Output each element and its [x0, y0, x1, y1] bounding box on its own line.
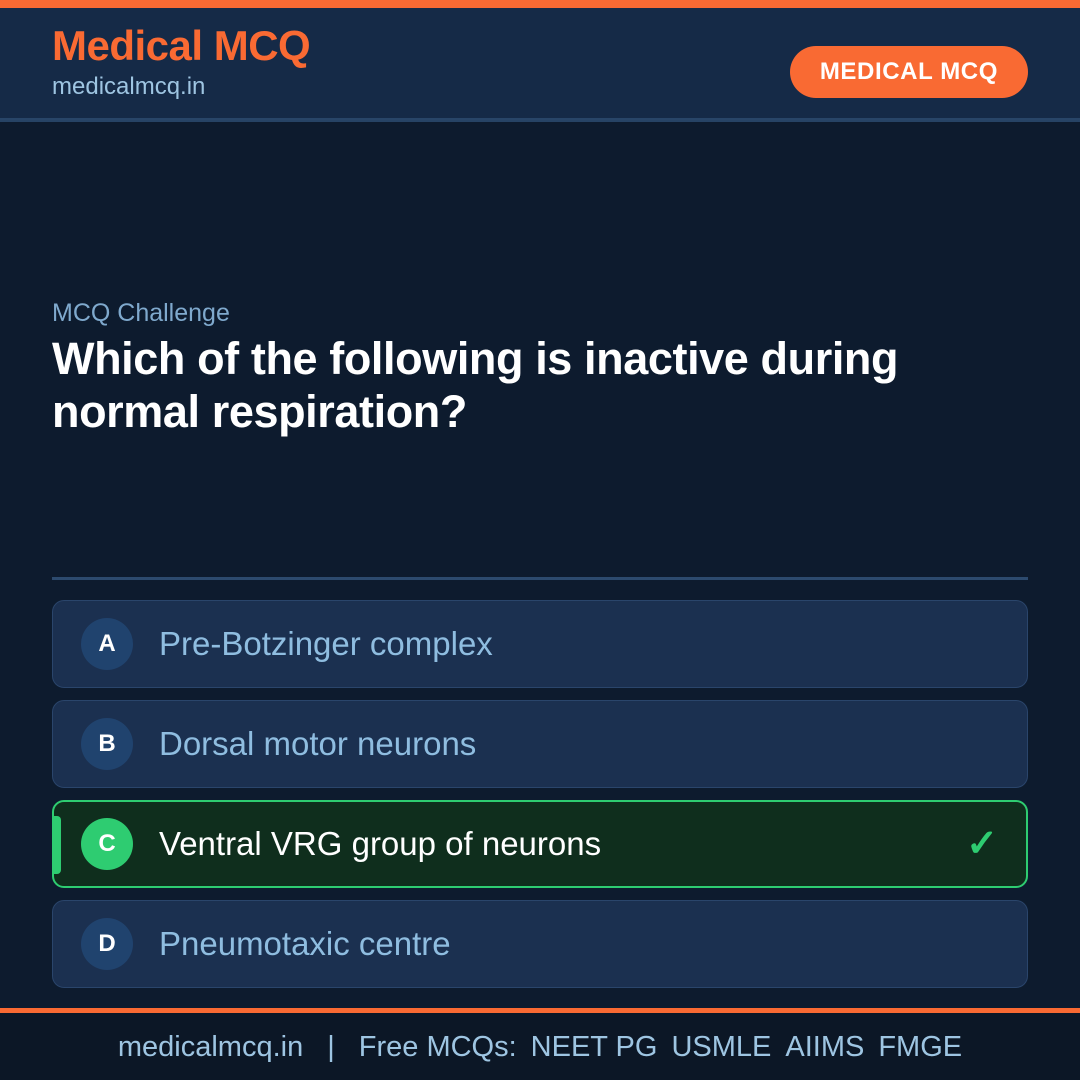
option-letter-badge-a: A [81, 618, 133, 670]
option-label-b: Dorsal motor neurons [159, 724, 999, 764]
top-accent-strip [0, 0, 1080, 8]
option-letter-badge-d: D [81, 918, 133, 970]
option-label-d: Pneumotaxic centre [159, 924, 999, 964]
question-block: MCQ Challenge Which of the following is … [52, 298, 1028, 438]
footer-label: Free MCQs: [359, 1030, 517, 1064]
option-row-b[interactable]: B Dorsal motor neurons [52, 700, 1028, 788]
correct-accent-bar [54, 816, 61, 874]
footer-exam-aiims[interactable]: AIIMS [785, 1030, 864, 1064]
brand-block: Medical MCQ medicalmcq.in [52, 22, 310, 102]
header-badge: MEDICAL MCQ [790, 46, 1028, 98]
option-label-c: Ventral VRG group of neurons [159, 824, 966, 864]
brand-title: Medical MCQ [52, 22, 310, 70]
footer-website[interactable]: medicalmcq.in [118, 1030, 303, 1064]
option-letter-badge-b: B [81, 718, 133, 770]
footer-exam-neet-pg[interactable]: NEET PG [531, 1030, 658, 1064]
options-list: A Pre-Botzinger complex B Dorsal motor n… [52, 600, 1028, 1000]
main-content: MCQ Challenge Which of the following is … [0, 122, 1080, 1008]
option-letter-badge-c: C [81, 818, 133, 870]
option-row-d[interactable]: D Pneumotaxic centre [52, 900, 1028, 988]
option-row-c[interactable]: C Ventral VRG group of neurons ✓ [52, 800, 1028, 888]
question-text: Which of the following is inactive durin… [52, 332, 1028, 438]
footer-content: medicalmcq.in | Free MCQs: NEET PG USMLE… [0, 1013, 1080, 1080]
footer-exam-fmge[interactable]: FMGE [878, 1030, 962, 1064]
question-eyebrow: MCQ Challenge [52, 298, 1028, 328]
brand-website: medicalmcq.in [52, 72, 310, 102]
footer-exam-usmle[interactable]: USMLE [671, 1030, 771, 1064]
option-row-a[interactable]: A Pre-Botzinger complex [52, 600, 1028, 688]
option-label-a: Pre-Botzinger complex [159, 624, 999, 664]
footer-separator: | [327, 1030, 335, 1064]
check-icon-c: ✓ [966, 825, 998, 863]
page-header: Medical MCQ medicalmcq.in MEDICAL MCQ [0, 8, 1080, 120]
page-footer: medicalmcq.in | Free MCQs: NEET PG USMLE… [0, 1008, 1080, 1080]
question-divider [52, 577, 1028, 580]
